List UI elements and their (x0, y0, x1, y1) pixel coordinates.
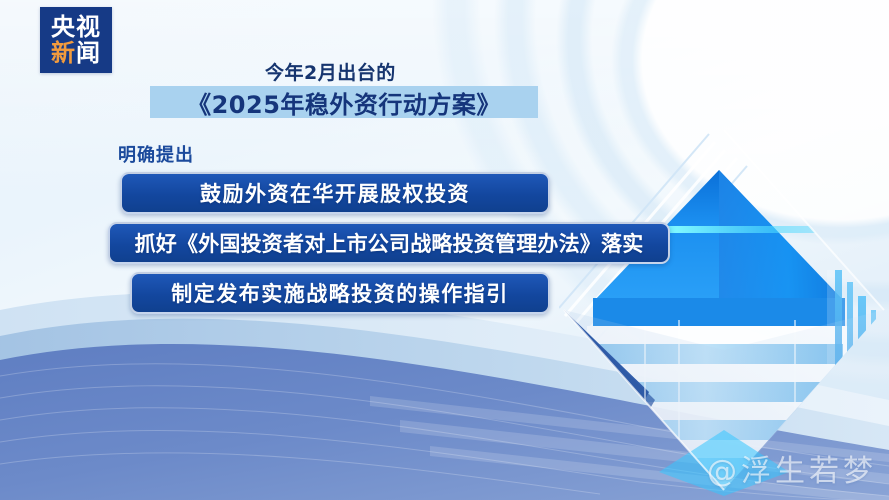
point-pill-3: 制定发布实施战略投资的操作指引 (130, 272, 550, 314)
section-label: 明确提出 (118, 141, 194, 167)
building-chart-icon (559, 120, 889, 500)
point-pill-1: 鼓励外资在华开展股权投资 (120, 172, 550, 214)
watermark: @浮生若梦 (707, 446, 877, 490)
point-pill-1-label: 鼓励外资在华开展股权投资 (200, 178, 470, 208)
logo-text-yangshi: 央视 (51, 15, 101, 39)
point-pill-2-label: 抓好《外国投资者对上市公司战略投资管理办法》落实 (135, 228, 644, 258)
headline-kicker: 今年2月出台的 (265, 58, 396, 85)
logo-line-2: 新 闻 (51, 41, 101, 65)
cctv-news-logo: 央视 新 闻 (40, 7, 112, 73)
logo-text-wen: 闻 (76, 41, 101, 65)
point-pill-3-label: 制定发布实施战略投资的操作指引 (171, 278, 509, 308)
document-title: 《2025年稳外资行动方案》 (150, 85, 538, 119)
broadcast-lower-third: 央视 新 闻 今年2月出台的 《2025年稳外资行动方案》 明确提出 鼓励外资在… (0, 0, 889, 500)
point-pill-2: 抓好《外国投资者对上市公司战略投资管理办法》落实 (108, 222, 670, 264)
logo-text-xin: 新 (51, 41, 76, 65)
logo-line-1: 央视 (51, 15, 101, 39)
